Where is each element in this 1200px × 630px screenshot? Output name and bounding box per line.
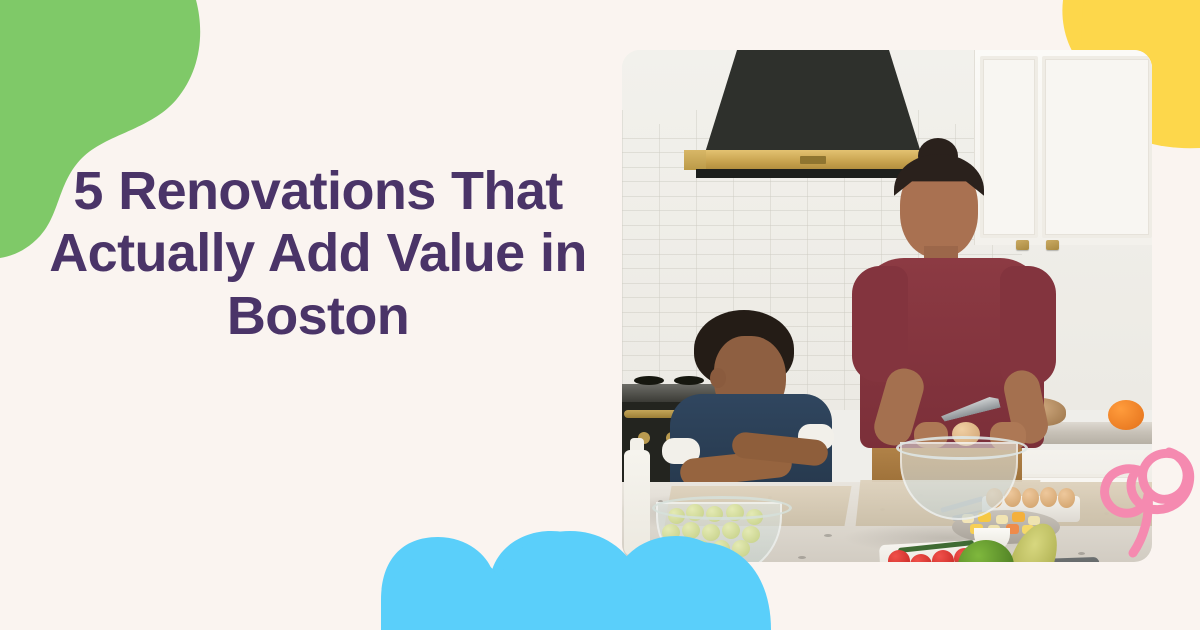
hero-photo [622,50,1152,562]
range-hood-badge [800,156,826,164]
feature-graphic-canvas: 5 Renovations That Actually Add Value in… [0,0,1200,630]
boy-ear [710,368,726,388]
range-hood-underside [696,169,930,178]
burner-icon [634,376,664,385]
cabinet-door-right [1042,56,1152,238]
woman-sleeve-left [852,266,908,382]
cabinet-knob-icon [1046,240,1059,250]
grape-bowl-rim [652,496,792,520]
burner-icon [674,376,704,385]
range-hood [704,50,922,156]
pumpkin [1108,400,1144,430]
page-title: 5 Renovations That Actually Add Value in… [28,160,608,347]
title-block: 5 Renovations That Actually Add Value in… [28,160,608,347]
milk-bottle [624,450,650,556]
cabinet-door-left [980,56,1038,238]
woman-sleeve-right [1000,266,1056,386]
glass-mixing-bowl-rim [896,436,1028,460]
range-hood-trim-cap-left [684,150,706,170]
cabinet-knob-icon [1016,240,1029,250]
